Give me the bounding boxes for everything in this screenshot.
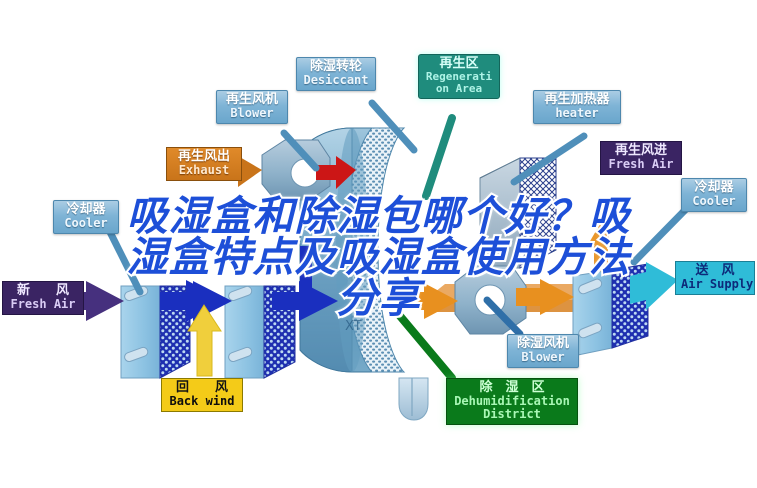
label-regeneration-area: 再生区 Regenerati on Area [418,54,500,99]
label-back-wind: 回 风 Back wind [161,378,243,412]
label-regeneration-heater: 再生加热器 heater [533,90,621,124]
label-air-supply: 送 风 Air Supply [675,261,755,295]
label-fresh-air-in: 新 风 Fresh Air [2,281,84,315]
label-regeneration-exhaust: 再生风出 Exhaust [166,147,242,181]
label-dehumidification-district: 除 湿 区 Dehumidification District [446,378,578,425]
svg-text:XT: XT [345,319,362,334]
label-dehumidification-blower: 除湿风机 Blower [507,334,579,368]
label-cooler-left: 冷却器 Cooler [53,200,119,234]
diagram-canvas: XT [0,0,757,488]
dehumidifier-schematic: XT [0,0,757,488]
label-desiccant-rotor: 除湿转轮 Desiccant [296,57,376,91]
heater-coil [480,158,556,268]
label-cooler-right: 冷却器 Cooler [681,178,747,212]
label-regeneration-fresh-air: 再生风进 Fresh Air [600,141,682,175]
label-regeneration-blower: 再生风机 Blower [216,90,288,124]
